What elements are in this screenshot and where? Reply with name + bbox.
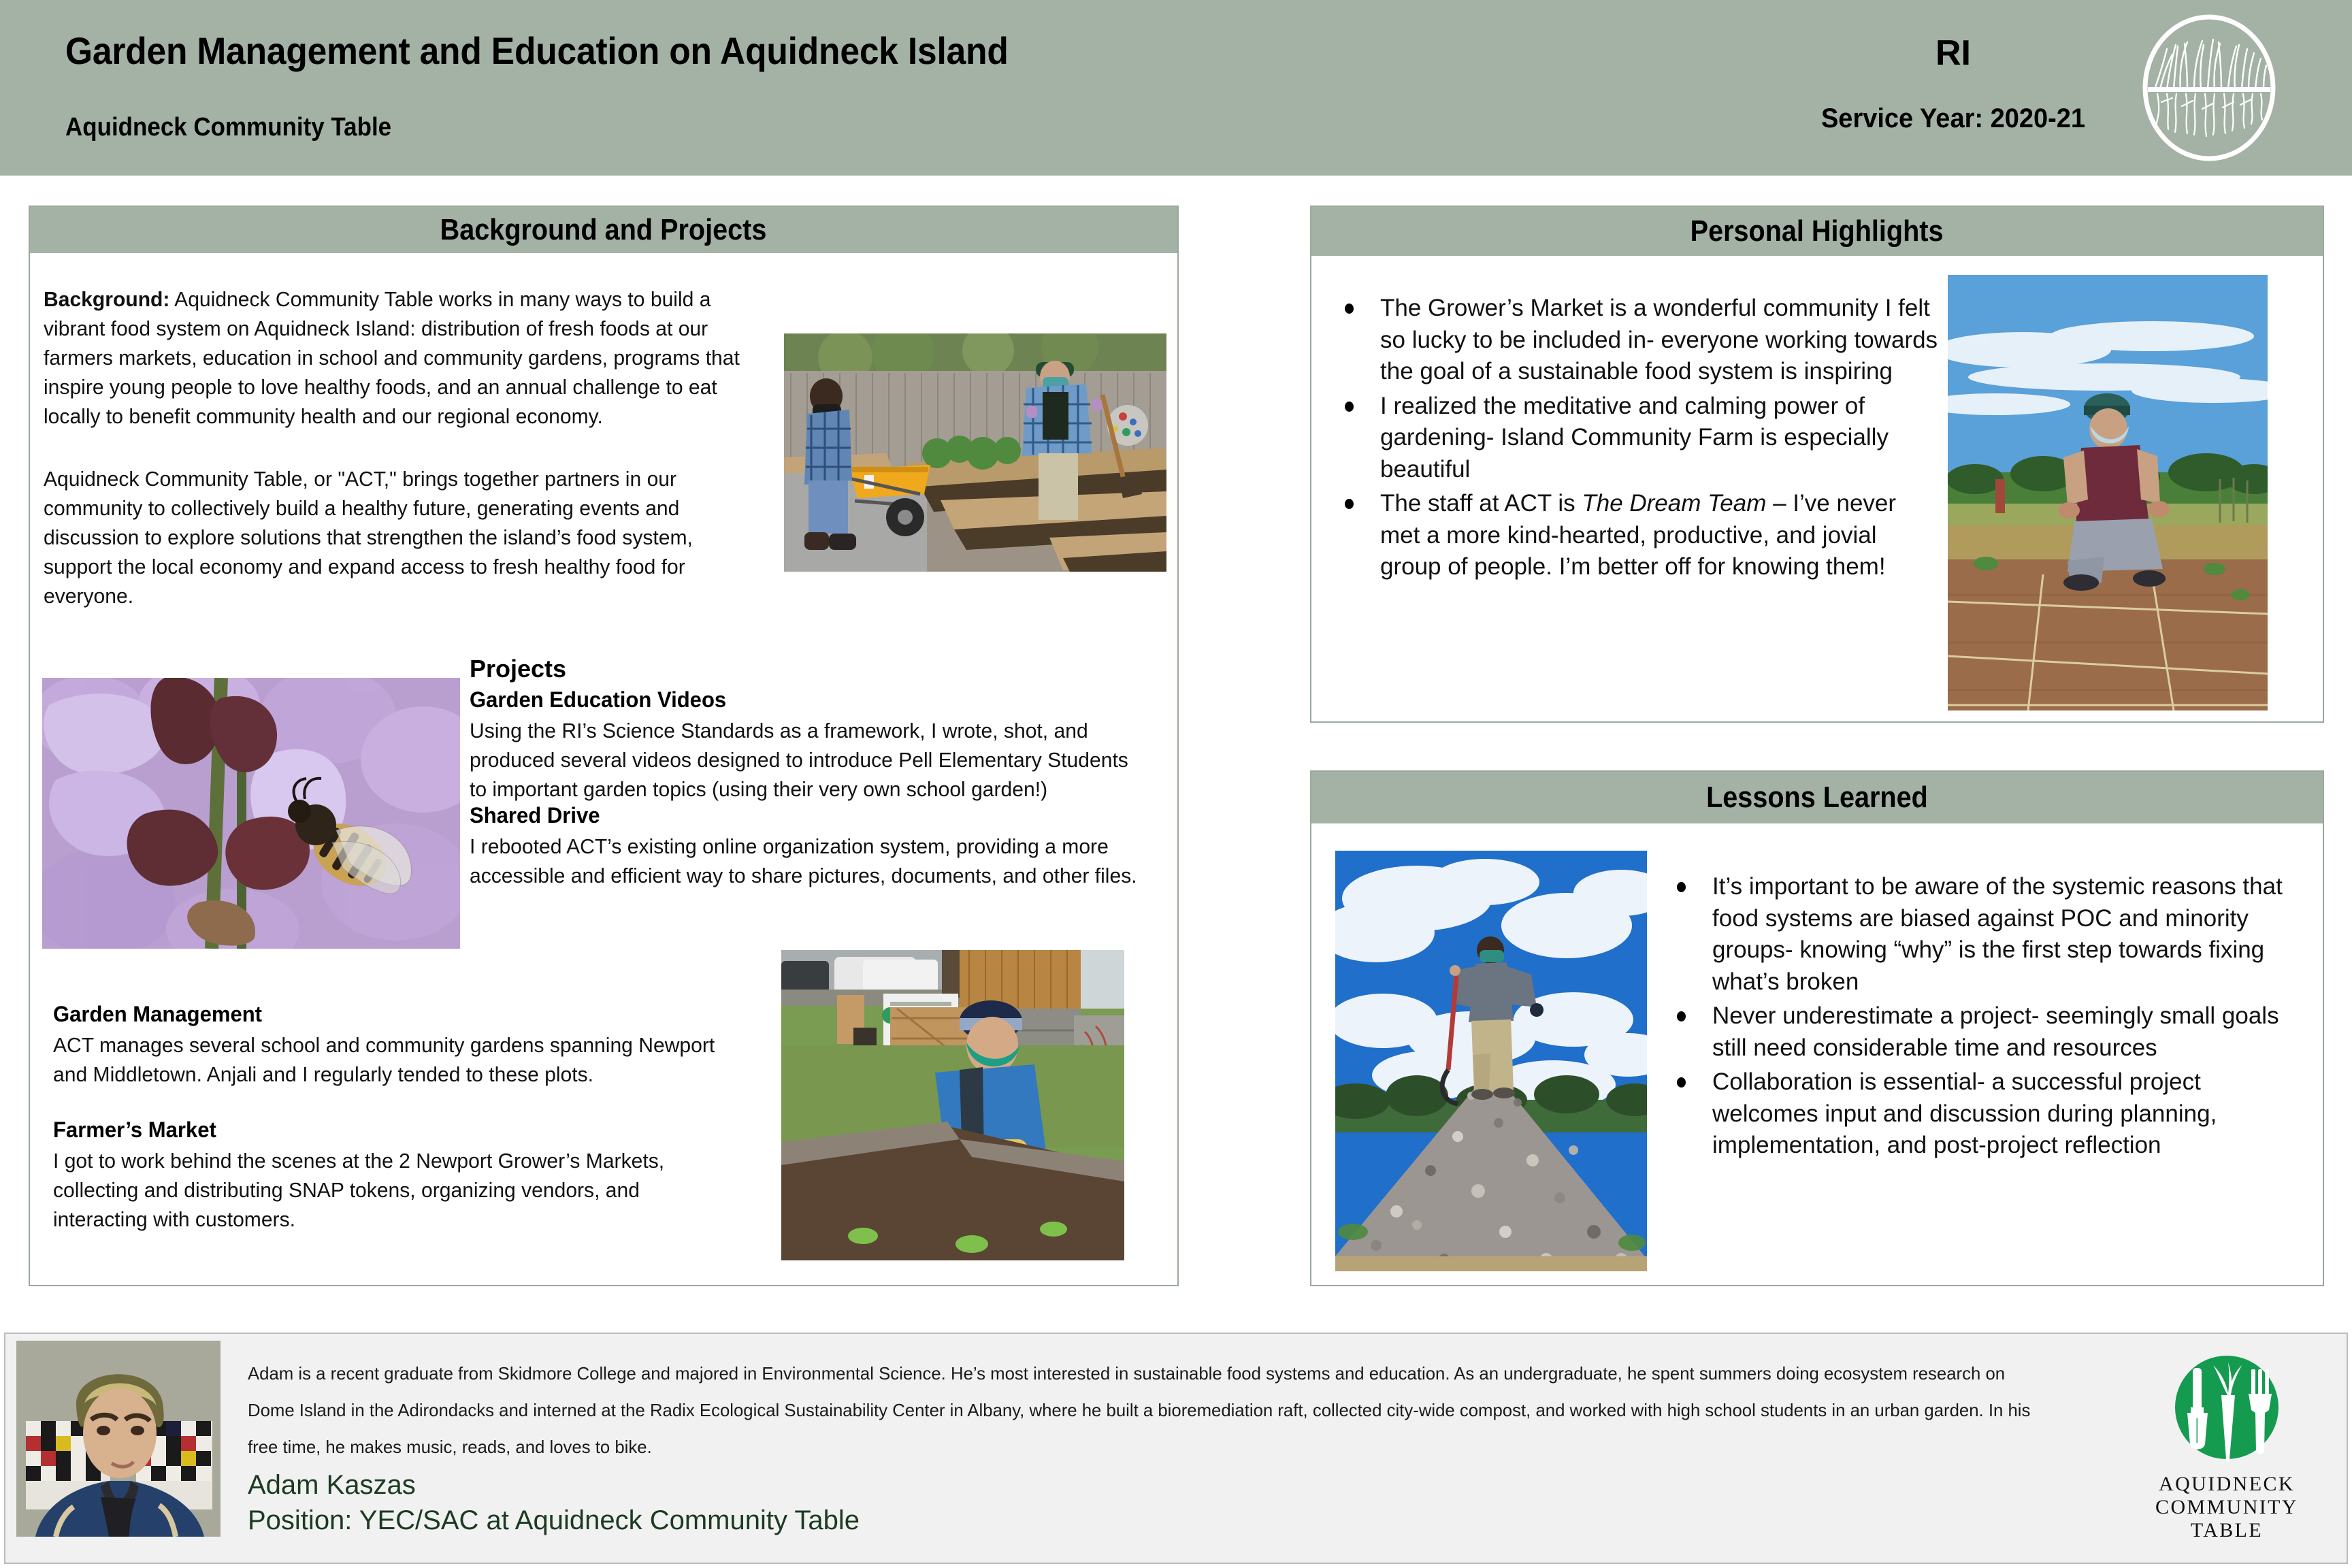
panel-header-background-and-projects: Background and Projects: [30, 207, 1177, 253]
act-wordmark-line-2: COMMUNITY: [2125, 1496, 2329, 1519]
project-title-farmers-market: Farmer’s Market: [53, 1117, 216, 1143]
poster-header: Garden Management and Education on Aquid…: [0, 0, 2352, 176]
project-title-garden-education-videos: Garden Education Videos: [470, 687, 726, 713]
americorps-grass-roots-circle-logo: [2137, 12, 2281, 163]
panel-title-personal-highlights: Personal Highlights: [1690, 207, 1944, 256]
project-title-garden-management: Garden Management: [53, 1002, 262, 1027]
act-wordmark: AQUIDNECK COMMUNITY TABLE: [2125, 1473, 2329, 1543]
project-body-farmers-market: I got to work behind the scenes at the 2…: [53, 1146, 733, 1234]
personal-highlights-list: The Grower’s Market is a wonderful commu…: [1328, 293, 1941, 586]
project-body-shared-drive: I rebooted ACT’s existing online organiz…: [470, 832, 1143, 890]
photo-bee-on-purple-sage-flower: [42, 678, 460, 949]
page-title: Garden Management and Education on Aquid…: [65, 29, 1380, 73]
panel-header-lessons-learned: Lessons Learned: [1311, 772, 2323, 823]
projects-subheading: Projects: [470, 655, 566, 683]
photo-volunteer-planting-seedlings: [781, 950, 1124, 1260]
list-item: The staff at ACT is The Dream Team – I’v…: [1328, 488, 1941, 583]
person-name: Adam Kaszas: [248, 1470, 416, 1501]
list-item: It’s important to be aware of the system…: [1661, 871, 2300, 998]
photo-kneeling-in-field-sowing: [1948, 275, 2268, 710]
highlight-3-before: The staff at ACT is: [1380, 490, 1582, 517]
list-item: Never underestimate a project- seemingly…: [1661, 1000, 2300, 1064]
state-abbreviation: RI: [1878, 33, 2028, 73]
list-item: I realized the meditative and calming po…: [1328, 391, 1941, 486]
person-bio: Adam is a recent graduate from Skidmore …: [248, 1356, 2053, 1465]
organization-name: Aquidneck Community Table: [65, 113, 391, 142]
list-item: Collaboration is essential- a successful…: [1661, 1066, 2300, 1162]
poster-canvas: Garden Management and Education on Aquid…: [0, 0, 2352, 1568]
act-wordmark-line-1: AQUIDNECK: [2125, 1473, 2329, 1496]
list-item: The Grower’s Market is a wonderful commu…: [1328, 293, 1941, 388]
panel-header-personal-highlights: Personal Highlights: [1311, 207, 2323, 256]
photo-garden-beds-wheelbarrow: [784, 333, 1166, 572]
project-body-garden-management: ACT manages several school and community…: [53, 1030, 720, 1089]
aquidneck-community-table-logo: AQUIDNECK COMMUNITY TABLE: [2125, 1345, 2329, 1549]
background-paragraph-2: Aquidneck Community Table, or "ACT," bri…: [44, 464, 763, 610]
background-paragraph-1: Background: Aquidneck Community Table wo…: [44, 284, 763, 431]
photo-headshot-adam-kaszas: [16, 1341, 220, 1537]
highlight-3-italic: The Dream Team: [1582, 490, 1766, 517]
project-body-garden-education-videos: Using the RI’s Science Standards as a fr…: [470, 716, 1143, 804]
person-position: Position: YEC/SAC at Aquidneck Community…: [248, 1505, 860, 1536]
panel-title-background-and-projects: Background and Projects: [440, 207, 767, 253]
act-wordmark-line-3: TABLE: [2125, 1519, 2329, 1542]
photo-standing-on-gravel-pile: [1335, 851, 1647, 1271]
panel-title-lessons-learned: Lessons Learned: [1706, 772, 1928, 823]
project-title-shared-drive: Shared Drive: [470, 803, 600, 828]
lessons-learned-list: It’s important to be aware of the system…: [1661, 871, 2300, 1164]
background-label: Background:: [44, 287, 169, 311]
